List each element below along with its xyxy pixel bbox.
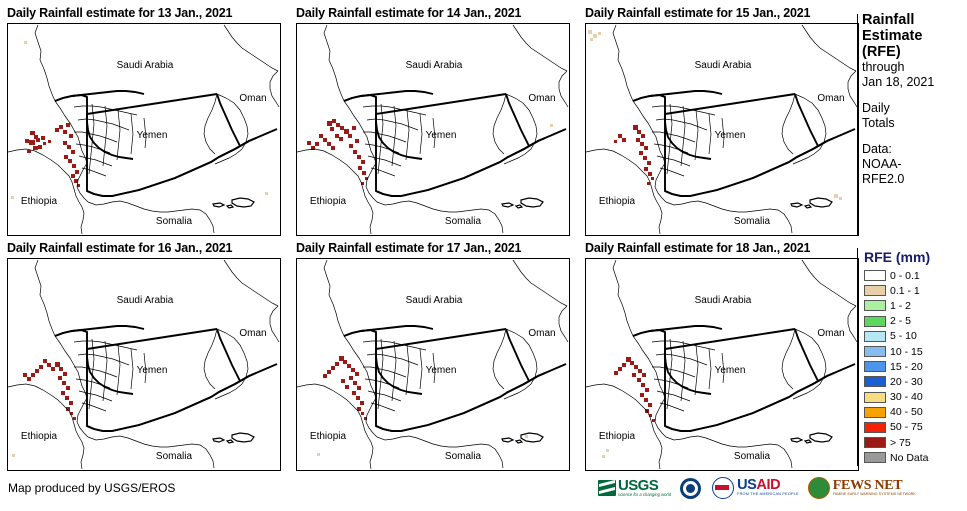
country-label-yemen: Yemen — [137, 130, 168, 141]
map-canvas: Saudi Arabia Oman Yemen Ethiopia Somalia — [586, 259, 858, 470]
map-frame-4[interactable]: Saudi Arabia Oman Yemen Ethiopia Somalia — [7, 258, 281, 471]
country-label-somalia: Somalia — [156, 451, 193, 462]
legend-title: RFE (mm) — [864, 249, 967, 265]
legend-label-5: 10 - 15 — [890, 346, 923, 358]
legend-label-10: 50 - 75 — [890, 421, 923, 433]
map-panel-4: Daily Rainfall estimate for 16 Jan., 202… — [7, 241, 232, 255]
legend-label-8: 30 - 40 — [890, 391, 923, 403]
country-label-yemen: Yemen — [715, 130, 746, 141]
map-panel-1: Daily Rainfall estimate for 13 Jan., 202… — [7, 6, 232, 20]
country-label-somalia: Somalia — [445, 451, 482, 462]
country-label-ethiopia: Ethiopia — [310, 196, 347, 207]
usgs-logo-tagline: science for a changing world — [618, 492, 671, 497]
map-canvas: Saudi Arabia Oman Yemen Ethiopia Somalia — [297, 259, 569, 470]
country-label-saudi-arabia: Saudi Arabia — [695, 60, 752, 71]
map-panel-title-4: Daily Rainfall estimate for 16 Jan., 202… — [7, 241, 232, 255]
legend-swatch-4 — [864, 331, 886, 342]
info-column: Rainfall Estimate (RFE) through Jan 18, … — [862, 12, 967, 187]
info-period-line1: Daily — [862, 101, 967, 116]
legend-row-9: 40 - 50 — [864, 405, 967, 420]
info-through-date: Jan 18, 2021 — [862, 75, 967, 90]
legend-swatch-1 — [864, 285, 886, 296]
map-panel-6: Daily Rainfall estimate for 18 Jan., 202… — [585, 241, 810, 255]
legend-row-1: 0.1 - 1 — [864, 283, 967, 298]
country-label-somalia: Somalia — [445, 216, 482, 227]
info-spacer-2 — [862, 131, 967, 142]
info-spacer-1 — [862, 90, 967, 101]
country-label-saudi-arabia: Saudi Arabia — [117, 60, 174, 71]
map-frame-1[interactable]: Saudi Arabia Oman Yemen Ethiopia Somalia — [7, 23, 281, 236]
country-label-somalia: Somalia — [156, 216, 193, 227]
legend-swatch-8 — [864, 392, 886, 403]
legend-swatch-6 — [864, 361, 886, 372]
legend-row-8: 30 - 40 — [864, 390, 967, 405]
country-label-yemen: Yemen — [715, 365, 746, 376]
map-canvas: Saudi Arabia Oman Yemen Ethiopia Somalia — [8, 24, 280, 235]
country-label-ethiopia: Ethiopia — [21, 196, 58, 207]
map-panel-title-5: Daily Rainfall estimate for 17 Jan., 202… — [296, 241, 521, 255]
map-frame-3[interactable]: Saudi Arabia Oman Yemen Ethiopia Somalia — [585, 23, 859, 236]
legend-rows: 0 - 0.10.1 - 11 - 22 - 55 - 1010 - 1515 … — [864, 268, 967, 465]
country-label-saudi-arabia: Saudi Arabia — [695, 295, 752, 306]
map-panel-2: Daily Rainfall estimate for 14 Jan., 202… — [296, 6, 521, 20]
country-label-saudi-arabia: Saudi Arabia — [406, 295, 463, 306]
info-period-line2: Totals — [862, 116, 967, 131]
legend-label-12: No Data — [890, 452, 929, 464]
legend-row-11: > 75 — [864, 435, 967, 450]
country-label-oman: Oman — [817, 328, 844, 339]
map-frame-5[interactable]: Saudi Arabia Oman Yemen Ethiopia Somalia — [296, 258, 570, 471]
usaid-seal-icon — [712, 477, 734, 499]
legend-swatch-9 — [864, 407, 886, 418]
map-frame-6[interactable]: Saudi Arabia Oman Yemen Ethiopia Somalia — [585, 258, 859, 471]
legend-row-6: 15 - 20 — [864, 359, 967, 374]
info-data-source-line2: RFE2.0 — [862, 172, 967, 187]
country-label-somalia: Somalia — [734, 216, 771, 227]
country-label-oman: Oman — [239, 328, 266, 339]
country-label-saudi-arabia: Saudi Arabia — [117, 295, 174, 306]
legend-row-3: 2 - 5 — [864, 314, 967, 329]
info-title-line1: Rainfall — [862, 12, 967, 28]
map-panel-5: Daily Rainfall estimate for 17 Jan., 202… — [296, 241, 521, 255]
legend: RFE (mm) 0 - 0.10.1 - 11 - 22 - 55 - 101… — [864, 249, 967, 465]
legend-label-4: 5 - 10 — [890, 330, 917, 342]
legend-label-7: 20 - 30 — [890, 376, 923, 388]
map-panel-title-2: Daily Rainfall estimate for 14 Jan., 202… — [296, 6, 521, 20]
fewsnet-globe-icon — [808, 477, 830, 499]
country-label-ethiopia: Ethiopia — [599, 196, 636, 207]
map-canvas: Saudi Arabia Oman Yemen Ethiopia Somalia — [297, 24, 569, 235]
country-label-ethiopia: Ethiopia — [310, 431, 347, 442]
country-label-oman: Oman — [528, 93, 555, 104]
legend-swatch-2 — [864, 300, 886, 311]
map-panel-title-1: Daily Rainfall estimate for 13 Jan., 202… — [7, 6, 232, 20]
country-label-yemen: Yemen — [426, 365, 457, 376]
info-data-label: Data: — [862, 142, 967, 157]
country-label-oman: Oman — [817, 93, 844, 104]
legend-label-1: 0.1 - 1 — [890, 285, 920, 297]
legend-label-0: 0 - 0.1 — [890, 270, 920, 282]
usaid-logo-text-a: US — [737, 477, 756, 493]
legend-row-4: 5 - 10 — [864, 329, 967, 344]
legend-row-2: 1 - 2 — [864, 298, 967, 313]
map-canvas: Saudi Arabia Oman Yemen Ethiopia Somalia — [8, 259, 280, 470]
map-panel-title-3: Daily Rainfall estimate for 15 Jan., 202… — [585, 6, 810, 20]
info-through-label: through — [862, 60, 967, 75]
map-canvas: Saudi Arabia Oman Yemen Ethiopia Somalia — [586, 24, 858, 235]
fewsnet-logo-text: FEWS NET — [833, 480, 916, 492]
legend-swatch-7 — [864, 376, 886, 387]
legend-label-9: 40 - 50 — [890, 406, 923, 418]
legend-row-10: 50 - 75 — [864, 420, 967, 435]
legend-label-2: 1 - 2 — [890, 300, 911, 312]
usaid-logo-text: USAID — [737, 479, 799, 492]
legend-row-12: No Data — [864, 450, 967, 465]
country-label-oman: Oman — [239, 93, 266, 104]
legend-swatch-3 — [864, 316, 886, 327]
country-label-somalia: Somalia — [734, 451, 771, 462]
legend-label-3: 2 - 5 — [890, 315, 911, 327]
fewsnet-logo-tagline: FAMINE EARLY WARNING SYSTEMS NETWORK — [833, 492, 916, 497]
noaa-seal-icon — [680, 478, 701, 499]
logo-strip: USGS science for a changing world USAID … — [598, 477, 916, 499]
legend-row-0: 0 - 0.1 — [864, 268, 967, 283]
country-label-ethiopia: Ethiopia — [21, 431, 58, 442]
map-panel-3: Daily Rainfall estimate for 15 Jan., 202… — [585, 6, 810, 20]
map-panel-title-6: Daily Rainfall estimate for 18 Jan., 202… — [585, 241, 810, 255]
country-label-saudi-arabia: Saudi Arabia — [406, 60, 463, 71]
fewsnet-logo: FEWS NET FAMINE EARLY WARNING SYSTEMS NE… — [808, 477, 916, 499]
legend-divider — [857, 248, 858, 466]
legend-label-11: > 75 — [890, 437, 911, 449]
info-title-line2: Estimate — [862, 28, 967, 44]
footer-credit: Map produced by USGS/EROS — [8, 481, 175, 495]
legend-row-7: 20 - 30 — [864, 374, 967, 389]
usaid-logo-text-b: AID — [756, 477, 780, 493]
usgs-logo: USGS science for a changing world — [598, 479, 671, 497]
legend-swatch-10 — [864, 422, 886, 433]
legend-row-5: 10 - 15 — [864, 344, 967, 359]
usaid-logo: USAID FROM THE AMERICAN PEOPLE — [712, 477, 799, 499]
info-data-source-line1: NOAA- — [862, 157, 967, 172]
noaa-logo — [680, 478, 701, 499]
info-title-line3: (RFE) — [862, 44, 967, 60]
country-label-oman: Oman — [528, 328, 555, 339]
country-label-ethiopia: Ethiopia — [599, 431, 636, 442]
legend-swatch-11 — [864, 437, 886, 448]
legend-swatch-0 — [864, 270, 886, 281]
usaid-logo-tagline: FROM THE AMERICAN PEOPLE — [737, 492, 799, 497]
legend-swatch-5 — [864, 346, 886, 357]
legend-swatch-12 — [864, 452, 886, 463]
usgs-mark-icon — [598, 480, 616, 496]
country-label-yemen: Yemen — [426, 130, 457, 141]
info-divider — [857, 14, 858, 236]
map-frame-2[interactable]: Saudi Arabia Oman Yemen Ethiopia Somalia — [296, 23, 570, 236]
legend-label-6: 15 - 20 — [890, 361, 923, 373]
usgs-logo-text: USGS — [618, 479, 671, 492]
country-label-yemen: Yemen — [137, 365, 168, 376]
